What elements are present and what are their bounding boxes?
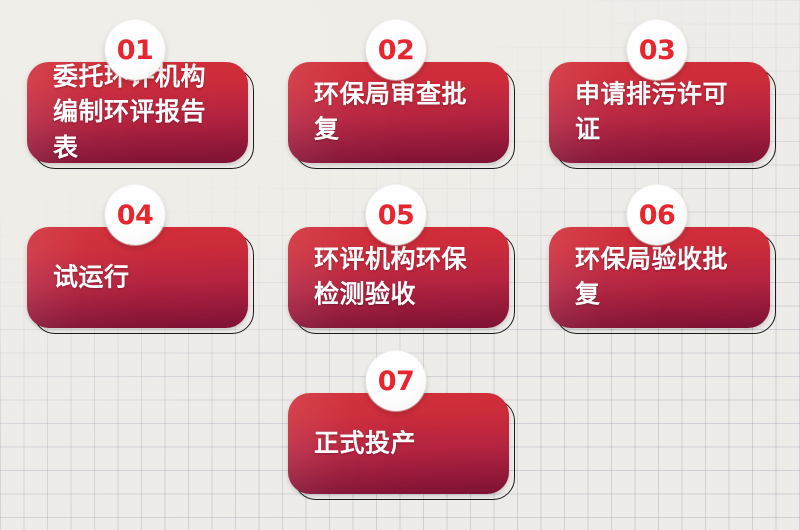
step-number-badge: 06: [627, 185, 687, 245]
flow-step-03[interactable]: 申请排污许可证 03: [549, 62, 770, 163]
step-number-badge: 02: [366, 20, 426, 80]
step-number-badge: 07: [366, 351, 426, 411]
step-number: 03: [639, 37, 676, 64]
step-label: 环评机构环保检测验收: [314, 242, 491, 313]
flow-step-05[interactable]: 环评机构环保检测验收 05: [288, 227, 509, 328]
flow-step-07[interactable]: 正式投产 07: [288, 393, 509, 494]
step-number-badge: 05: [366, 185, 426, 245]
step-label: 环保局验收批复: [575, 242, 752, 313]
step-number-badge: 03: [627, 20, 687, 80]
step-number-badge: 01: [105, 20, 165, 80]
step-number: 01: [117, 37, 154, 64]
flow-step-02[interactable]: 环保局审查批复 02: [288, 62, 509, 163]
flow-step-04[interactable]: 试运行 04: [27, 227, 248, 328]
step-label: 环保局审查批复: [314, 77, 491, 148]
step-label: 正式投产: [314, 426, 491, 462]
flow-step-06[interactable]: 环保局验收批复 06: [549, 227, 770, 328]
flow-step-01[interactable]: 委托环评机构编制环评报告表 01: [27, 62, 248, 163]
flowchart-canvas: 委托环评机构编制环评报告表 01 环保局审查批复 02 申请排污许可证 03 试…: [0, 0, 800, 530]
step-label: 试运行: [53, 260, 230, 296]
step-number-badge: 04: [105, 185, 165, 245]
step-label: 申请排污许可证: [575, 77, 752, 148]
step-number: 02: [378, 37, 415, 64]
step-number: 05: [378, 202, 415, 229]
step-number: 07: [378, 368, 415, 395]
step-number: 06: [639, 202, 676, 229]
step-number: 04: [117, 202, 154, 229]
